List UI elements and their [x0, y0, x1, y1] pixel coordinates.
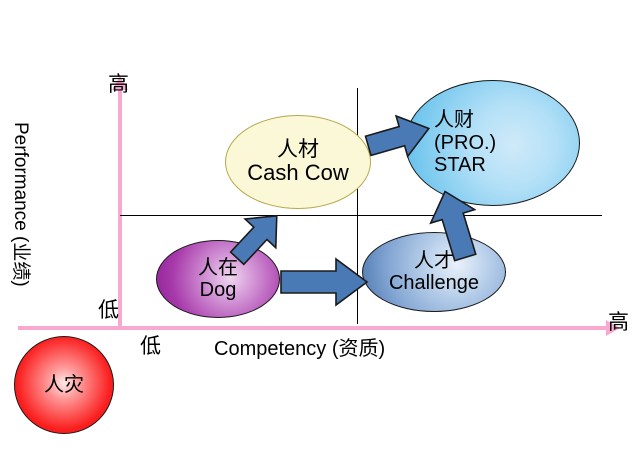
- node-challenge-line2: Challenge: [363, 272, 505, 294]
- node-star-line2: (PRO.): [434, 132, 496, 154]
- node-dog-line2: Dog: [157, 279, 279, 301]
- y-axis-title: Performance (业绩): [9, 122, 36, 282]
- y-axis-low-label: 低: [98, 294, 119, 324]
- diagram-canvas: 高 低 低 高 Competency (资质) Performance (业绩)…: [0, 0, 640, 470]
- quadrant-horizontal-divider: [120, 215, 602, 216]
- x-axis-line: [18, 326, 610, 330]
- y-axis-high-label: 高: [108, 68, 129, 98]
- node-cash-cow[interactable]: 人材 Cash Cow: [225, 115, 371, 209]
- node-cash-cow-line1: 人材: [226, 138, 370, 162]
- x-axis-high-label: 高: [608, 306, 629, 336]
- node-cash-cow-line2: Cash Cow: [226, 161, 370, 186]
- node-star-line1: 人财: [434, 109, 474, 131]
- arrow-dog-to-challenge-icon: [278, 256, 370, 308]
- node-star-line3: STAR: [434, 154, 486, 176]
- arrow-cash-cow-to-star-icon: [364, 106, 434, 168]
- x-axis-title: Competency (资质): [214, 332, 385, 361]
- node-disaster-line1: 人灾: [15, 374, 113, 396]
- node-disaster[interactable]: 人灾: [14, 336, 114, 434]
- x-axis-low-label: 低: [140, 330, 161, 360]
- arrow-challenge-to-star-icon: [424, 186, 486, 262]
